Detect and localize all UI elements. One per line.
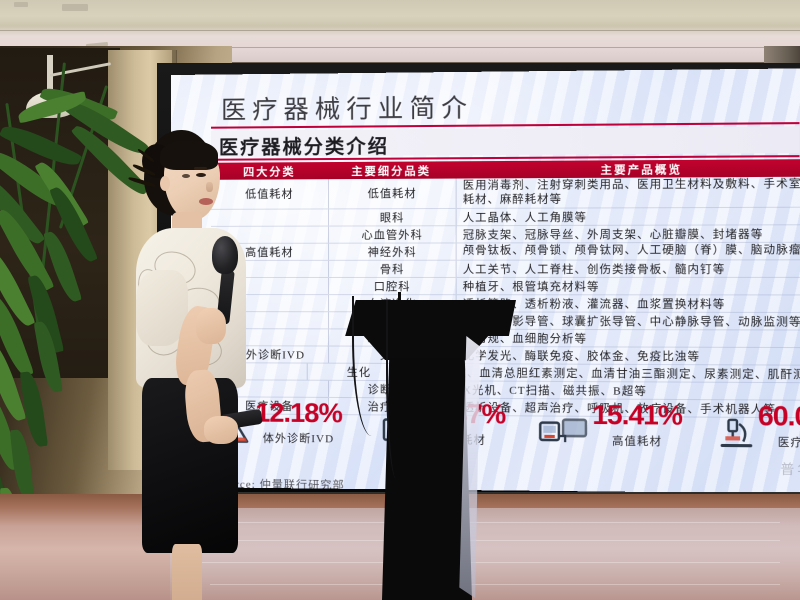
device-icon — [536, 413, 590, 448]
table-row: 心血管外科 冠脉支架、冠脉导丝、外周支架、心脏瓣膜、封堵器等 — [211, 225, 800, 244]
column-header-subcategory: 主要细分品类 — [328, 162, 455, 179]
table-row: 高值耗材 神经外科 颅骨钛板、颅骨锁、颅骨钛网、人工硬脑（脊）膜、脑动脉瘤夹等 — [211, 242, 800, 260]
hair-fringe — [160, 140, 218, 170]
cell-subcategory: 低值耗材 — [328, 179, 457, 208]
cell-subcategory: 眼科 — [328, 208, 457, 225]
stat-item: 15.41% 高值耗材 — [536, 401, 682, 449]
presentation-photo-scene: 医疗器械行业简介 医疗器械分类介绍 四大分类 主要细分品类 主要产品概览 低值耗… — [0, 0, 800, 600]
cell-subcategory: 骨科 — [328, 260, 457, 276]
stat-label: 医疗设备 — [758, 433, 800, 450]
cell-products: 种植牙、根管填充材料等 — [457, 277, 800, 294]
legs — [172, 544, 202, 600]
lips — [199, 198, 213, 205]
table-row: 眼科 人工晶体、人工角膜等 — [211, 207, 800, 226]
cell-products: 冠脉支架、冠脉导丝、外周支架、心脏瓣膜、封堵器等 — [457, 225, 800, 242]
stat-item: 60.04% 医疗设备 — [716, 402, 800, 450]
eyebrow — [194, 167, 207, 170]
table-row: 骨科 人工关节、人工脊柱、创伤类接骨板、髓内钉等 — [211, 260, 800, 278]
cell-subcategory: 神经外科 — [328, 243, 457, 259]
cell-products: 颅骨钛板、颅骨锁、颅骨钛网、人工硬脑（脊）膜、脑动脉瘤夹等 — [457, 242, 800, 259]
stat-label: 高值耗材 — [592, 432, 682, 449]
table-row: 口腔科 种植牙、根管填充材料等 — [211, 277, 800, 295]
hand — [204, 416, 238, 444]
column-header-products: 主要产品概览 — [455, 160, 800, 178]
stat-percent: 60.04% — [758, 403, 800, 431]
microphone-head — [212, 236, 238, 274]
classification-table: 四大分类 主要细分品类 主要产品概览 低值耗材 低值耗材 医用消毒剂、注射穿刺类… — [211, 159, 800, 418]
cell-products: 化学发光、酶联免疫、胶体金、免疫比浊等 — [457, 346, 800, 364]
hand — [196, 308, 226, 344]
cell-subcategory: 心血管外科 — [328, 226, 457, 242]
nose — [206, 182, 213, 192]
cell-products: 医用消毒剂、注射穿刺类用品、医用卫生材料及敷料、手术室部分耗材、麻醉耗材等 — [457, 177, 800, 208]
eye — [196, 173, 206, 177]
cell-products: 人工关节、人工脊柱、创伤类接骨板、髓内钉等 — [457, 260, 800, 277]
stat-percent: 15.41% — [592, 402, 682, 430]
microscope-icon — [716, 415, 756, 450]
slide-watermark: 普华 — [780, 458, 800, 478]
cell-products: 人工晶体、人工角膜等 — [457, 207, 800, 225]
ceiling-seam — [0, 30, 800, 31]
ceiling-vent — [62, 4, 88, 11]
cell-subcategory: 口腔科 — [328, 277, 457, 293]
ear — [160, 176, 170, 191]
ceiling-vent — [14, 2, 28, 7]
table-row: 低值耗材 低值耗材 医用消毒剂、注射穿刺类用品、医用卫生材料及敷料、手术室部分耗… — [211, 177, 800, 210]
presenter — [120, 120, 280, 600]
eye — [182, 174, 190, 178]
